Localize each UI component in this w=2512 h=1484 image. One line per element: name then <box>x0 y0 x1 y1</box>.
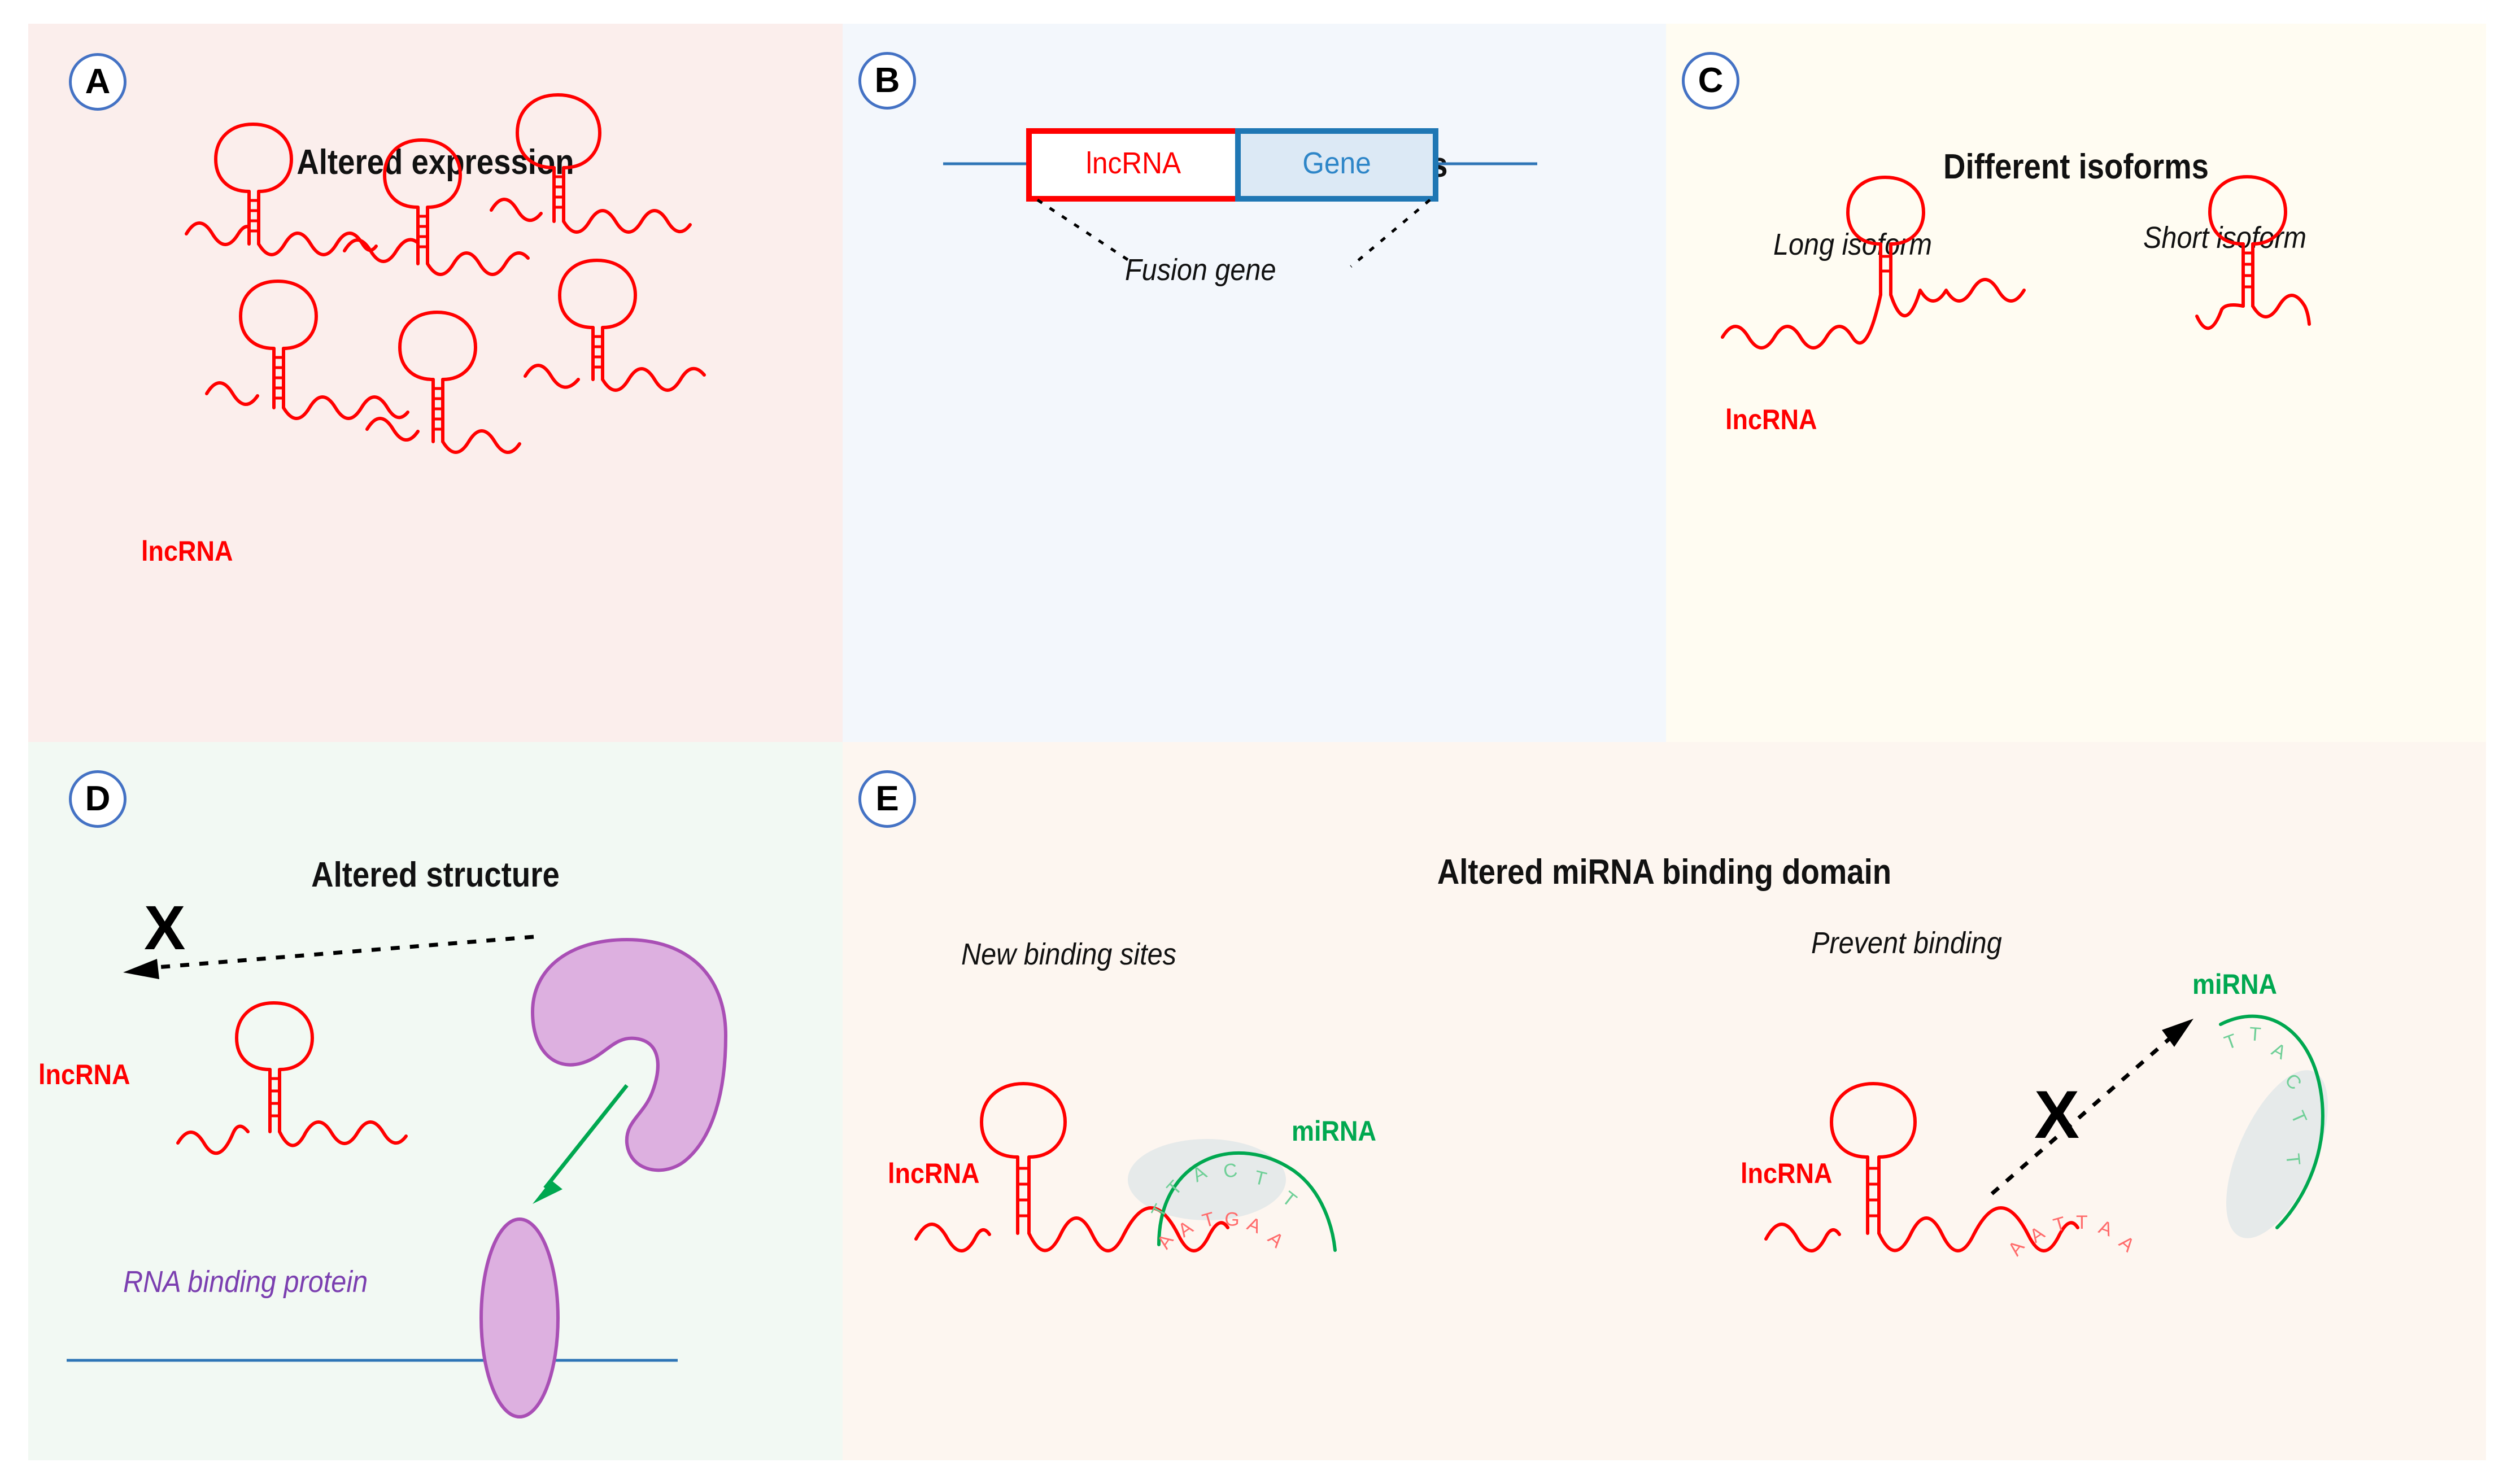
svg-text:T: T <box>2248 1023 2261 1045</box>
panel-b-fusion-genes: B Formation of fusion genes lncRNA Gene … <box>843 24 1666 742</box>
svg-text:A: A <box>1174 1216 1197 1241</box>
rna-binding-protein-ellipse <box>481 1219 558 1417</box>
scenario-prevent-binding: A A T T A A T T A <box>1766 1016 2349 1260</box>
svg-text:A: A <box>1244 1213 1264 1238</box>
short-isoform-structure <box>2197 177 2309 328</box>
svg-text:A: A <box>2115 1232 2139 1256</box>
green-binding-arrow <box>533 1085 627 1204</box>
blocked-dashed-arrow-e <box>1992 1019 2193 1194</box>
svg-text:T: T <box>2282 1153 2304 1167</box>
long-isoform-structure <box>1722 177 2024 348</box>
binding-halo-2 <box>2205 1056 2349 1252</box>
svg-text:A: A <box>2004 1236 2029 1260</box>
figure-canvas: A Altered expression lncRNA <box>0 0 2512 1484</box>
svg-text:A: A <box>2096 1216 2116 1241</box>
stem-loop-5 <box>367 312 520 452</box>
panel-d-structure-diagram <box>28 742 843 1460</box>
svg-text:G: G <box>1224 1208 1240 1230</box>
fusion-leader-left <box>1037 200 1128 260</box>
svg-text:A: A <box>2026 1222 2048 1247</box>
panel-c-isoform-diagram <box>1666 24 2486 742</box>
blocked-dashed-arrow <box>123 937 534 979</box>
fusion-gene-caption: Fusion gene <box>1125 252 1276 287</box>
svg-text:T: T <box>2051 1212 2068 1236</box>
lncrna-stem-loop-d <box>178 1003 406 1153</box>
svg-text:A: A <box>1264 1228 1288 1252</box>
rna-binding-protein-hook <box>533 940 726 1170</box>
panel-e-mirna-diagram: T T A C T T A A T G A A <box>843 742 2486 1460</box>
panel-a-rna-diagram <box>28 24 843 742</box>
scenario-new-binding-sites: T T A C T T A A T G A A <box>916 1084 1335 1253</box>
svg-text:T: T <box>2222 1030 2240 1054</box>
stem-loop-4 <box>207 281 408 418</box>
stem-loop-1 <box>186 124 376 255</box>
panel-e-altered-mirna-binding-domain: E Altered miRNA binding domain New bindi… <box>843 742 2486 1460</box>
svg-text:A: A <box>2268 1039 2289 1064</box>
fusion-leader-right <box>1351 200 1430 267</box>
panel-b-fusion-diagram <box>843 24 1666 742</box>
svg-text:A: A <box>1153 1230 1177 1253</box>
stem-loop-6 <box>525 260 704 390</box>
svg-text:C: C <box>1222 1159 1239 1182</box>
gene-box-label: Gene <box>1246 146 1428 181</box>
panel-a-altered-expression: A Altered expression lncRNA <box>28 24 843 742</box>
lncrna-sequence-2: A A T T A A <box>2004 1212 2139 1260</box>
stem-loop-3 <box>491 95 690 232</box>
panel-c-different-isoforms: C Different isoforms Long isoform Short … <box>1666 24 2486 742</box>
stem-loop-2 <box>344 140 528 274</box>
lncrna-box-label: lncRNA <box>1037 146 1229 181</box>
panel-d-altered-structure: D Altered structure lncRNA X RNA binding… <box>28 742 843 1460</box>
svg-text:T: T <box>2076 1212 2088 1233</box>
